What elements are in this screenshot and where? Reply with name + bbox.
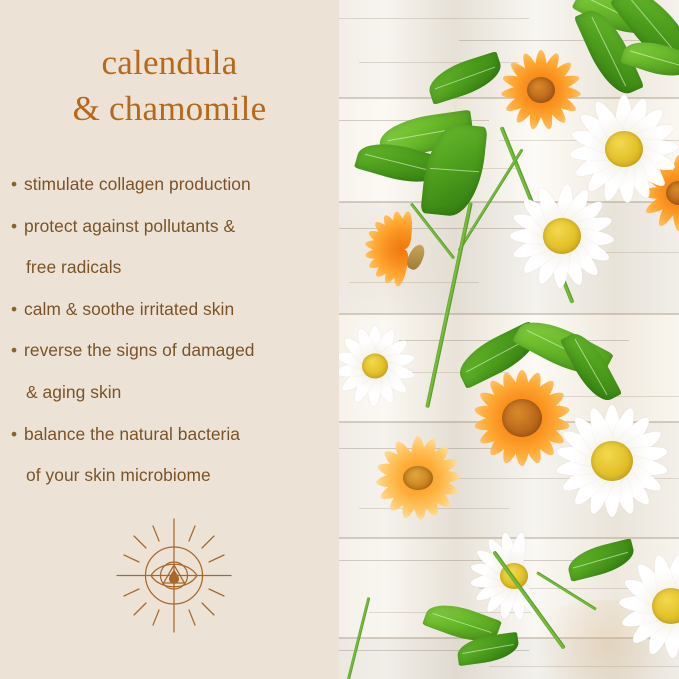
calendula-flower <box>351 208 455 290</box>
list-item: • balance the natural bacteria of your s… <box>11 414 341 497</box>
page-title: calendula & chamomile <box>0 40 339 132</box>
bullet-icon: • <box>11 289 17 331</box>
benefit-text: calm & soothe irritated skin <box>24 289 341 331</box>
product-photo <box>339 0 679 679</box>
product-benefits-card: calendula & chamomile • stimulate collag… <box>0 0 679 679</box>
flower-center <box>502 399 542 437</box>
benefit-text: balance the natural bacteria <box>24 414 341 456</box>
text-panel: calendula & chamomile • stimulate collag… <box>0 0 339 679</box>
daisy-flower <box>537 398 679 524</box>
title-line-1: calendula <box>0 40 339 86</box>
sun-eye-emblem-icon <box>113 517 235 634</box>
flower-center <box>605 131 643 167</box>
benefits-list: • stimulate collagen production • protec… <box>11 164 341 497</box>
bullet-icon: • <box>11 164 17 206</box>
list-item: • stimulate collagen production <box>11 164 341 206</box>
bullet-icon: • <box>11 206 17 248</box>
title-line-2: & chamomile <box>0 86 339 132</box>
list-item: • calm & soothe irritated skin <box>11 289 341 331</box>
benefit-text: stimulate collagen production <box>24 164 341 206</box>
list-item: • reverse the signs of damaged & aging s… <box>11 330 341 413</box>
calendula-flower <box>357 430 479 526</box>
benefit-text-cont: free radicals <box>24 247 341 289</box>
benefit-text-cont: of your skin microbiome <box>24 455 341 497</box>
benefit-text: protect against pollutants & <box>24 206 341 248</box>
bullet-icon: • <box>11 330 17 372</box>
benefit-text-cont: & aging skin <box>24 372 341 414</box>
flower-center <box>591 441 633 481</box>
list-item: • protect against pollutants & free radi… <box>11 206 341 289</box>
benefit-text: reverse the signs of damaged <box>24 330 341 372</box>
bullet-icon: • <box>11 414 17 456</box>
daisy-flower <box>491 176 633 296</box>
daisy-flower <box>339 320 429 412</box>
